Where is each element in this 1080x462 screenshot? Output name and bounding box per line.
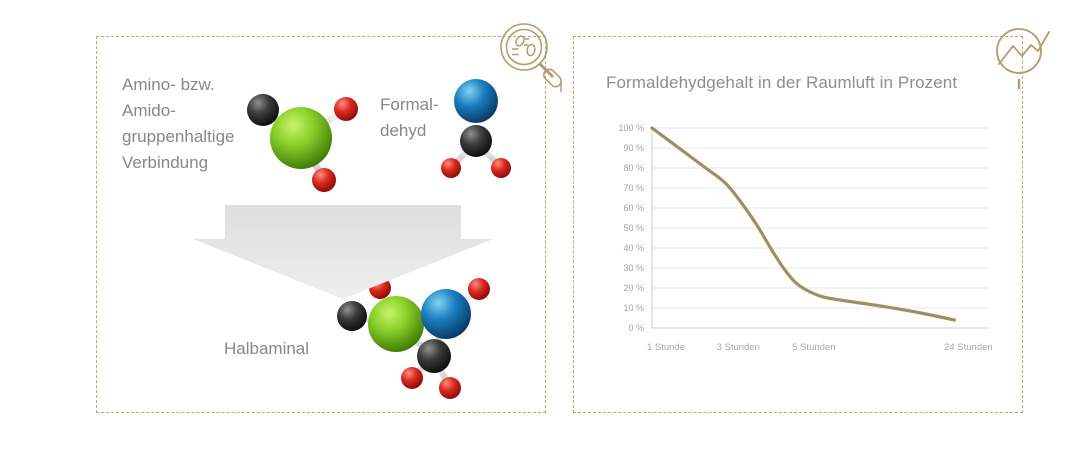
- magnifier-molecules-icon: [497, 20, 571, 94]
- molecule-amino-compound: [239, 83, 374, 198]
- y-axis-tick: 0 %: [628, 323, 644, 333]
- x-axis-tick: 3 Stunden: [717, 342, 760, 353]
- y-axis-tick: 100 %: [618, 123, 644, 133]
- y-axis-tick: 80 %: [623, 163, 644, 173]
- x-axis-tick: 1 Stunde: [647, 342, 685, 353]
- reaction-arrow-icon: [193, 203, 493, 301]
- x-axis-tick: 24 Stunden: [944, 342, 993, 353]
- y-axis-tick: 50 %: [623, 223, 644, 233]
- y-axis-tick: 70 %: [623, 183, 644, 193]
- y-axis-tick: 60 %: [623, 203, 644, 213]
- y-axis-tick: 20 %: [623, 283, 644, 293]
- y-axis-tick: 30 %: [623, 263, 644, 273]
- chart-title: Formaldehydgehalt in der Raumluft in Pro…: [606, 73, 957, 93]
- y-axis-tick: 40 %: [623, 243, 644, 253]
- chart-series-line: [652, 128, 954, 320]
- line-chart: 100 %90 %80 %70 %60 %50 %40 %30 %20 %10 …: [600, 120, 1000, 380]
- y-axis-tick: 90 %: [623, 143, 644, 153]
- y-axis-tick: 10 %: [623, 303, 644, 313]
- x-axis-tick: 5 Stunden: [792, 342, 835, 353]
